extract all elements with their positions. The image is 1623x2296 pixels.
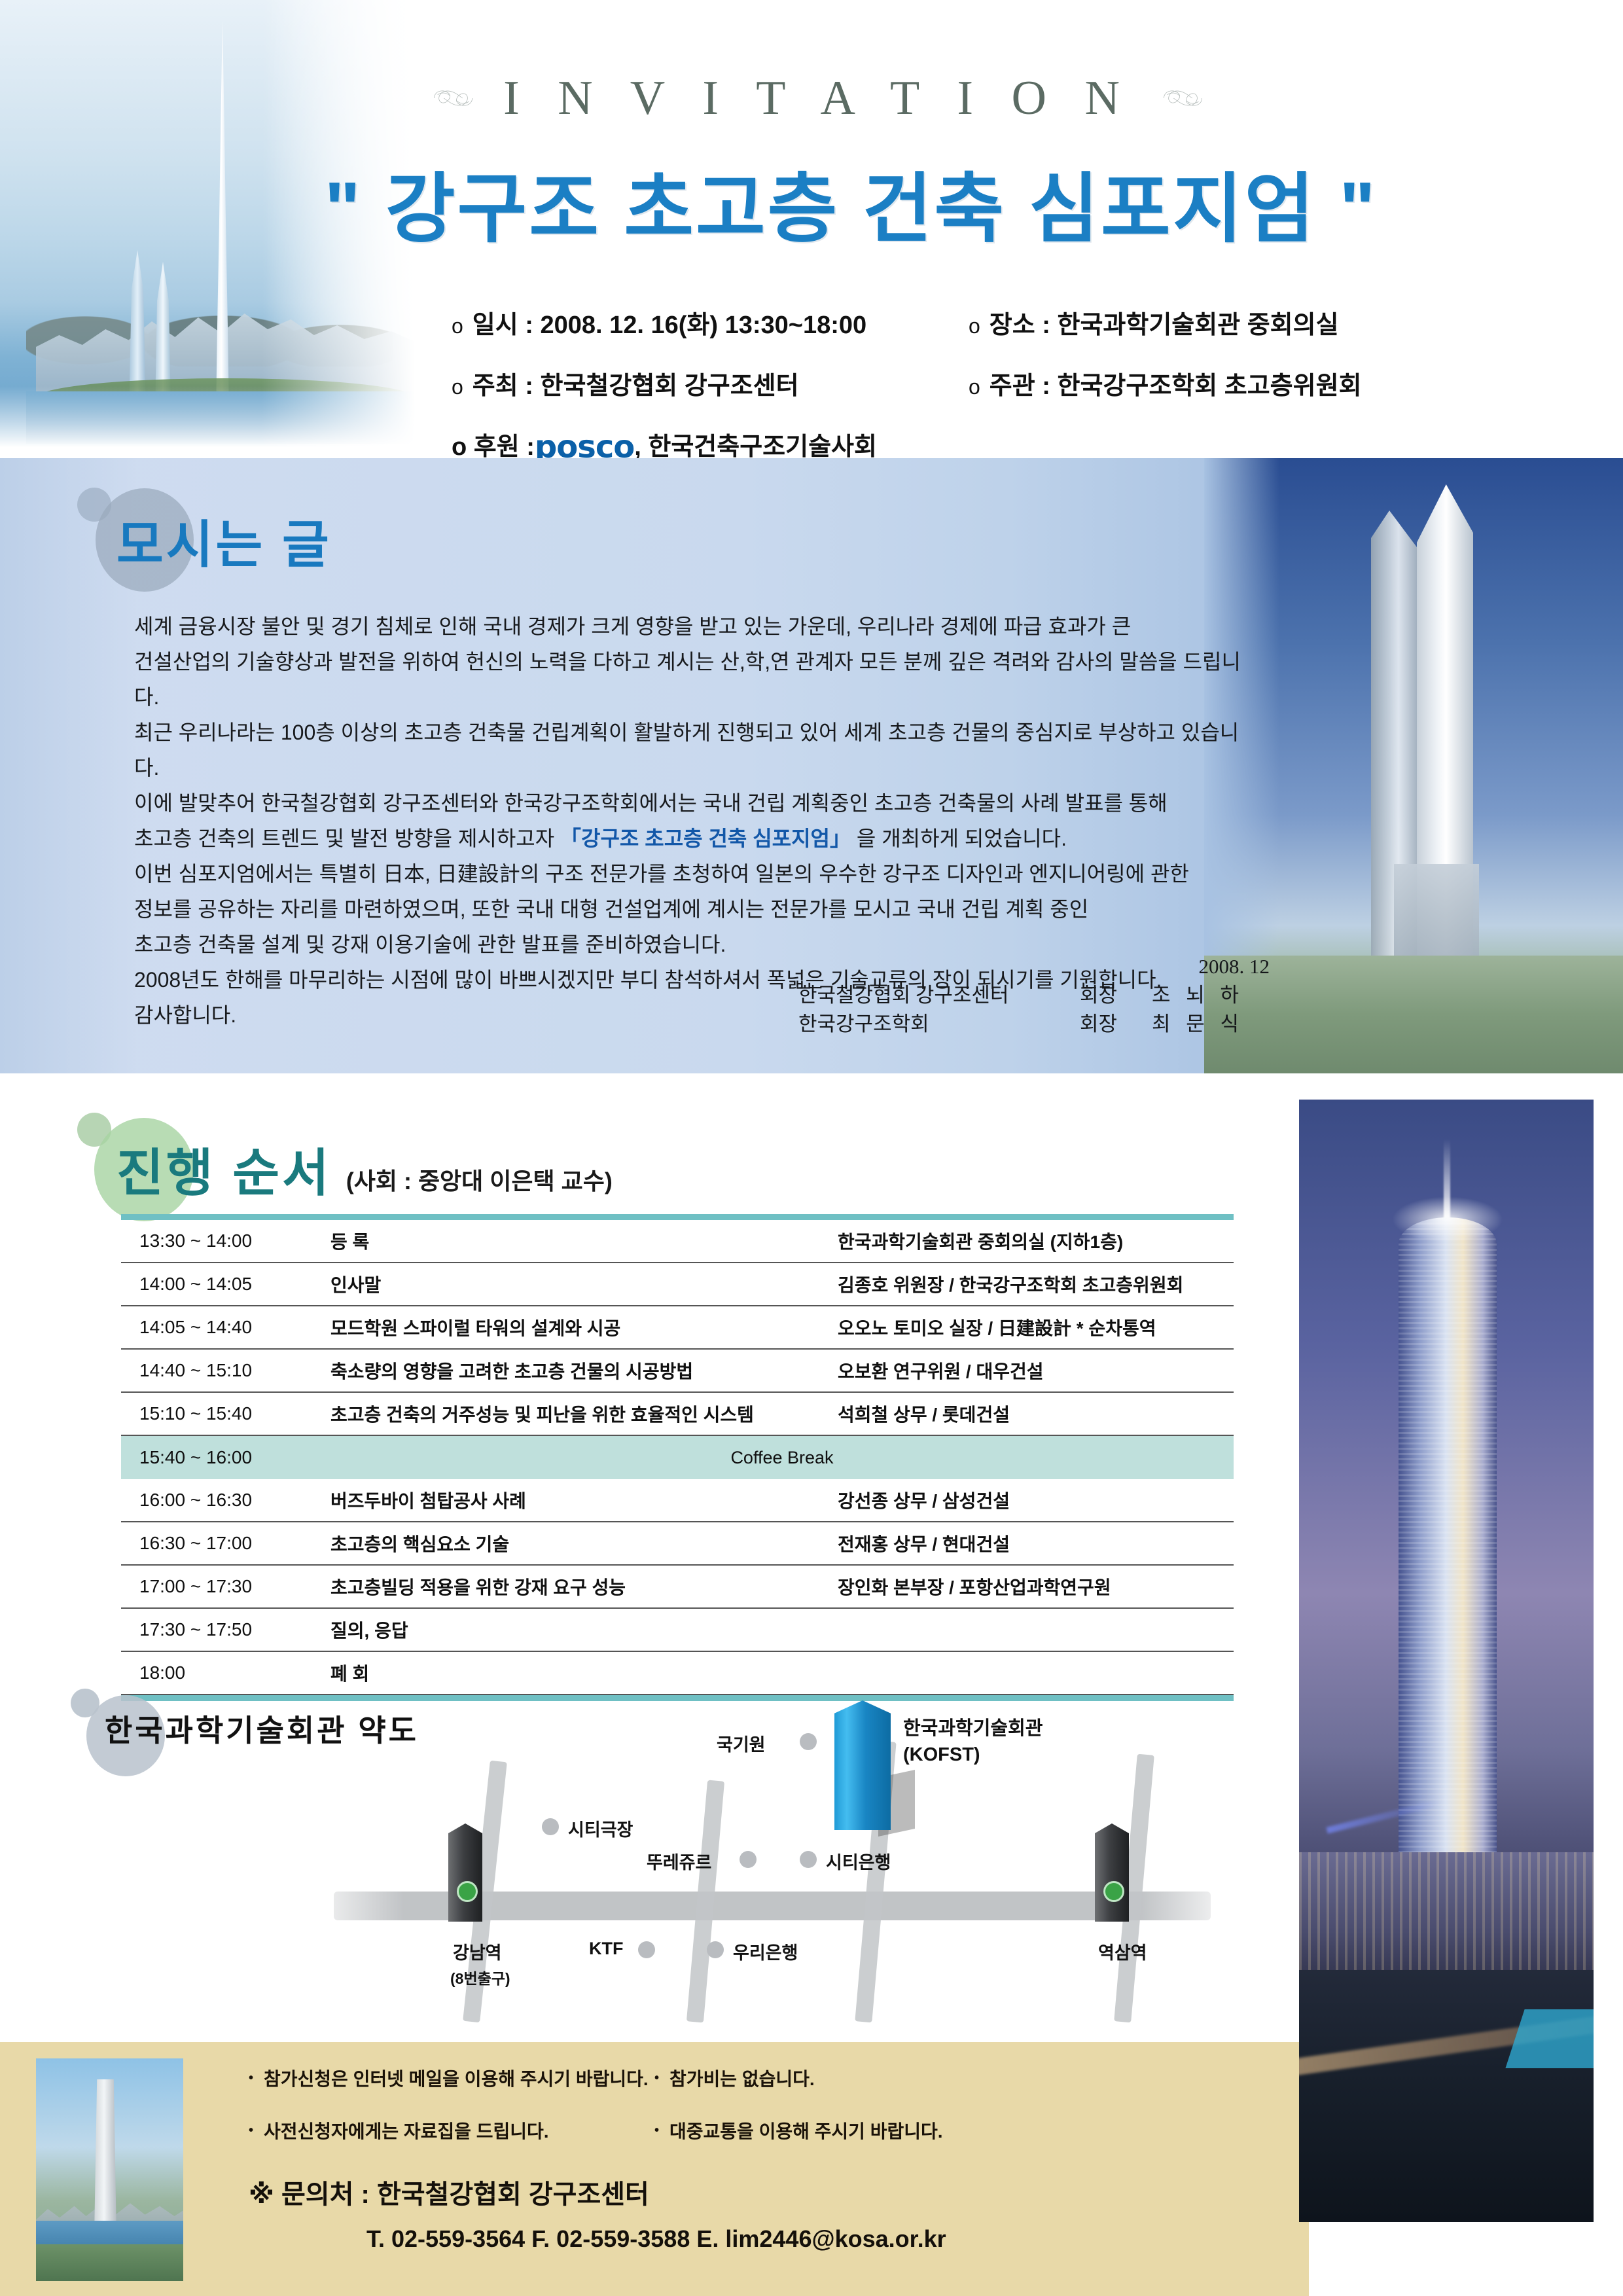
map-dot-woori-bank [707, 1941, 724, 1958]
greeting-paragraph: 정보를 공유하는 자리를 마련하였으며, 또한 국내 대형 건설업계에 계시는 … [134, 891, 1247, 927]
footer-note: • 대중교통을 이용해 주시기 바랍니다. [654, 2117, 1047, 2144]
signatory-role: 회장 [1080, 1010, 1152, 1039]
event-info-date-text: 일시 : 2008. 12. 16(화) 13:30~18:00 [473, 304, 866, 340]
bullet-dot-icon: • [249, 2071, 253, 2086]
footer-contact-title: ※ 문의처 : 한국철강협회 강구조센터 [249, 2173, 649, 2211]
greeting-paragraph: 이번 심포지엄에서는 특별히 日本, 日建設計의 구조 전문가를 초청하여 일본… [134, 856, 1247, 891]
map-dot-ktf [638, 1941, 655, 1958]
footer-note: • 참가신청은 인터넷 메일을 이용해 주시기 바랍니다. [249, 2065, 654, 2091]
schedule-title: 초고층의 핵심요소 기술 [330, 1530, 838, 1556]
schedule-speaker: 전재홍 상무 / 현대건설 [838, 1530, 1234, 1556]
schedule-time: 14:00 ~ 14:05 [121, 1274, 330, 1295]
event-info-sponsor-prefix: o 후원 : [452, 426, 535, 462]
table-row: 14:40 ~ 15:10 축소량의 영향을 고려한 초고층 건물의 시공방법 … [121, 1350, 1234, 1393]
schedule-time: 16:30 ~ 17:00 [121, 1533, 330, 1554]
map-label-venue-code: (KOFST) [903, 1742, 980, 1767]
footer-tower-photo [36, 2058, 183, 2281]
map-label-gukgiwon: 국기원 [717, 1731, 766, 1756]
schedule-title: 버즈두바이 첨탑공사 사례 [330, 1487, 838, 1513]
signatory-name: 최 문 식 [1152, 1010, 1270, 1039]
footer-note: • 사전신청자에게는 자료집을 드립니다. [249, 2117, 654, 2144]
schedule-time: 18:00 [121, 1662, 330, 1683]
event-info-venue-text: 장소 : 한국과학기술회관 중회의실 [990, 304, 1339, 340]
map-label-gangnam-station: 강남역 [453, 1939, 502, 1964]
bullet-dot-icon: • [249, 2123, 253, 2138]
signatory-row: 한국철강협회 강구조센터 회장 조 뇌 하 [720, 981, 1270, 1010]
bullet-circle-icon: o [452, 375, 463, 399]
schedule-title: 질의, 응답 [330, 1617, 838, 1643]
footer-photo-tower [92, 2079, 118, 2229]
symposium-name-highlight: 「강구조 초고층 건축 심포지엄」 [560, 827, 851, 850]
bullet-dot-icon: • [654, 2123, 659, 2138]
schedule-speaker: 한국과학기술회관 중회의실 (지하1층) [838, 1228, 1234, 1254]
signature-date: 2008. 12 [720, 952, 1270, 981]
kofst-building-icon [834, 1700, 891, 1830]
greeting-paragraph: 이에 발맞추어 한국철강협회 강구조센터와 한국강구조학회에서는 국내 건립 계… [134, 785, 1247, 821]
signatory-org: 한국강구조학회 [798, 1010, 1080, 1039]
signatory-name: 조 뇌 하 [1152, 981, 1270, 1010]
night-tower-photo [1299, 1100, 1594, 2222]
table-row: 14:00 ~ 14:05 인사말 김종호 위원장 / 한국강구조학회 초고층위… [121, 1263, 1234, 1306]
night-tower-crown-glow [1392, 1196, 1503, 1242]
flourish-ornament-right [1162, 71, 1204, 126]
invitation-banner: I N V I T A T I O N [432, 62, 1204, 134]
table-row: 16:30 ~ 17:00 초고층의 핵심요소 기술 전재홍 상무 / 현대건설 [121, 1522, 1234, 1566]
footer-note-text: 참가비는 없습니다. [669, 2065, 815, 2091]
footer-note: • 참가비는 없습니다. [654, 2065, 1047, 2091]
schedule-time: 14:40 ~ 15:10 [121, 1360, 330, 1381]
footer-photo-park [36, 2244, 183, 2281]
greeting-signature-block: 2008. 12 한국철강협회 강구조센터 회장 조 뇌 하 한국강구조학회 회… [720, 952, 1270, 1039]
schedule-title: 등 록 [330, 1228, 838, 1254]
invitation-label: I N V I T A T I O N [503, 71, 1133, 126]
footer-notes: • 참가신청은 인터넷 메일을 이용해 주시기 바랍니다. • 참가비는 없습니… [249, 2065, 1099, 2144]
map-label-venue: 한국과학기술회관 [903, 1716, 1043, 1741]
map-label-woori-bank: 우리은행 [733, 1939, 798, 1964]
table-row: 17:00 ~ 17:30 초고층빌딩 적용을 위한 강재 요구 성능 장인화 … [121, 1566, 1234, 1609]
event-info-venue: o 장소 : 한국과학기술회관 중회의실 [969, 304, 1499, 340]
footer-contact-detail: T. 02-559-3564 F. 02-559-3588 E. lim2446… [366, 2225, 946, 2253]
schedule-time: 15:10 ~ 15:40 [121, 1403, 330, 1424]
footer-note-text: 대중교통을 이용해 주시기 바랍니다. [669, 2117, 943, 2144]
greeting-section-title: 모시는 글 [116, 504, 332, 577]
schedule-time: 17:00 ~ 17:30 [121, 1576, 330, 1597]
schedule-time: 17:30 ~ 17:50 [121, 1619, 330, 1640]
poster-header: I N V I T A T I O N " 강구조 초고층 건축 심포지엄 " … [0, 0, 1623, 458]
greeting-line5-after: 을 개최하게 되었습니다. [851, 827, 1067, 850]
greeting-paragraph: 세계 금융시장 불안 및 경기 침체로 인해 국내 경제가 크게 영향을 받고 … [134, 609, 1247, 644]
signatory-role: 회장 [1080, 981, 1152, 1010]
schedule-time: 14:05 ~ 14:40 [121, 1317, 330, 1338]
signatory-org: 한국철강협회 강구조센터 [798, 981, 1080, 1010]
bullet-circle-icon: o [452, 314, 463, 338]
map-dot-tous-les-jours [740, 1851, 757, 1868]
schedule-speaker: 석희철 상무 / 롯데건설 [838, 1401, 1234, 1427]
schedule-speaker: 김종호 위원장 / 한국강구조학회 초고층위원회 [838, 1271, 1234, 1297]
schedule-title: 초고층빌딩 적용을 위한 강재 요구 성능 [330, 1573, 838, 1600]
schedule-time: 16:00 ~ 16:30 [121, 1490, 330, 1511]
schedule-time: 15:40 ~ 16:00 [121, 1447, 330, 1468]
event-info-sponsor: o 후원 : posco , 한국건축구조기술사회 [452, 426, 1499, 463]
subway-station-marker-gangnam [448, 1823, 482, 1922]
greeting-line5-before: 초고층 건축의 트렌드 및 발전 방향을 제시하고자 [134, 827, 560, 850]
program-schedule-table: 13:30 ~ 14:00 등 록 한국과학기술회관 중회의실 (지하1층) 1… [121, 1214, 1234, 1701]
map-label-tous-les-jours: 뚜레쥬르 [647, 1848, 711, 1874]
schedule-speaker: 오보환 연구위원 / 대우건설 [838, 1357, 1234, 1384]
map-label-yeoksam-station: 역삼역 [1098, 1939, 1147, 1964]
event-info-sponsor-suffix: , 한국건축구조기술사회 [634, 426, 877, 462]
schedule-title: 인사말 [330, 1271, 838, 1297]
header-photo-fade-bottom [0, 386, 458, 458]
map-label-ktf: KTF [589, 1939, 623, 1959]
program-moderator: (사회 : 중앙대 이은택 교수) [346, 1162, 613, 1196]
subway-station-marker-yeoksam [1095, 1823, 1129, 1922]
night-tower-ground [1299, 1970, 1594, 2222]
bullet-dot-icon: • [654, 2071, 659, 2086]
event-info-date: o 일시 : 2008. 12. 16(화) 13:30~18:00 [452, 304, 969, 340]
schedule-title: 초고층 건축의 거주성능 및 피난을 위한 효율적인 시스템 [330, 1401, 838, 1427]
signatory-row: 한국강구조학회 회장 최 문 식 [720, 1010, 1270, 1039]
program-title-group: 진행 순서 (사회 : 중앙대 이은택 교수) [116, 1132, 613, 1206]
schedule-title: 모드학원 스파이럴 타워의 설계와 시공 [330, 1314, 838, 1340]
schedule-top-rule [121, 1214, 1234, 1220]
venue-map-section: 한국과학기술회관 약도 한국과학기술회관 (KOFST) 국기원 시티극장 뚜레… [0, 1682, 1309, 2049]
poster-title: " 강구조 초고층 건축 심포지엄 " [262, 147, 1440, 257]
map-dot-gukgiwon [800, 1733, 817, 1750]
event-info-host-text: 주최 : 한국철강협회 강구조센터 [473, 365, 799, 401]
footer-note-text: 사전신청자에게는 자료집을 드립니다. [264, 2117, 549, 2144]
map-label-gangnam-exit: (8번출구) [450, 1966, 510, 1988]
event-info-grid: o 일시 : 2008. 12. 16(화) 13:30~18:00 o 장소 … [452, 304, 1499, 463]
footer-note-text: 참가신청은 인터넷 메일을 이용해 주시기 바랍니다. [264, 2065, 649, 2091]
program-section-title: 진행 순서 [116, 1132, 332, 1206]
table-row: 15:10 ~ 15:40 초고층 건축의 거주성능 및 피난을 위한 효율적인… [121, 1393, 1234, 1436]
table-row: 16:00 ~ 16:30 버즈두바이 첨탑공사 사례 강선종 상무 / 삼성건… [121, 1479, 1234, 1522]
table-row: 14:05 ~ 14:40 모드학원 스파이럴 타워의 설계와 시공 오오노 토… [121, 1306, 1234, 1350]
map-dot-city-theater [542, 1818, 559, 1835]
event-info-organizer-text: 주관 : 한국강구조학회 초고층위원회 [990, 365, 1362, 401]
bullet-circle-icon: o [969, 375, 980, 399]
event-info-host: o 주최 : 한국철강협회 강구조센터 [452, 365, 969, 401]
schedule-speaker: 강선종 상무 / 삼성건설 [838, 1487, 1234, 1513]
bullet-circle-icon: o [969, 314, 980, 338]
schedule-speaker: 오오노 토미오 실장 / 日建設計 * 순차통역 [838, 1314, 1234, 1340]
greeting-paragraph: 최근 우리나라는 100층 이상의 초고층 건축물 건립계획이 활발하게 진행되… [134, 715, 1247, 785]
greeting-paragraph-highlighted: 초고층 건축의 트렌드 및 발전 방향을 제시하고자 「강구조 초고층 건축 심… [134, 821, 1247, 856]
map-label-citibank: 시티은행 [826, 1848, 891, 1874]
schedule-title: Coffee Break [330, 1448, 1234, 1468]
event-info-organizer: o 주관 : 한국강구조학회 초고층위원회 [969, 365, 1499, 401]
table-row: 13:30 ~ 14:00 등 록 한국과학기술회관 중회의실 (지하1층) [121, 1220, 1234, 1263]
table-row-coffee-break: 15:40 ~ 16:00 Coffee Break [121, 1436, 1234, 1479]
flourish-ornament-left [432, 71, 474, 126]
map-label-city-theater: 시티극장 [568, 1816, 633, 1841]
map-dot-citibank [800, 1851, 817, 1868]
schedule-speaker: 장인화 본부장 / 포항산업과학연구원 [838, 1573, 1234, 1600]
map-canvas: 한국과학기술회관 (KOFST) 국기원 시티극장 뚜레쥬르 시티은행 강남역 … [314, 1695, 1257, 2036]
schedule-time: 13:30 ~ 14:00 [121, 1230, 330, 1251]
table-row: 17:30 ~ 17:50 질의, 응답 [121, 1609, 1234, 1652]
night-tower-body [1399, 1217, 1497, 1885]
greeting-title-group: 모시는 글 [116, 504, 332, 577]
greeting-paragraph: 건설산업의 기술향상과 발전을 위하여 헌신의 노력을 다하고 계시는 산,학,… [134, 644, 1247, 715]
schedule-title: 축소량의 영향을 고려한 초고층 건물의 시공방법 [330, 1357, 838, 1384]
